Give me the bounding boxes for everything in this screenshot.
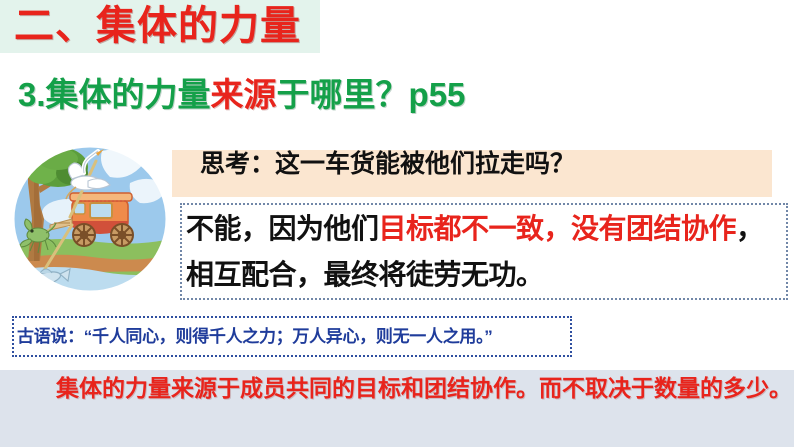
answer-text: 不能，因为他们目标都不一致，没有团结协作，相互配合，最终将徒劳无功。 <box>186 206 786 298</box>
question-heading-part1: 3.集体的力量 <box>18 76 211 113</box>
question-heading-highlight: 来源 <box>211 76 277 113</box>
conclusion-text: 集体的力量来源于成员共同的目标和团结协作。而不取决于数量的多少。 <box>8 370 794 406</box>
think-prompt-text: 思考：这一车货能被他们拉走吗？ <box>172 148 792 181</box>
question-heading: 3.集体的力量来源于哪里？p55 <box>18 74 465 116</box>
slide-canvas: 二、集体的力量 3.集体的力量来源于哪里？p55 <box>0 0 794 447</box>
answer-part1: 不能，因为他们 <box>186 213 379 244</box>
idiom-text: 古语说：“千人同心，则得千人之力；万人异心，则无一人之用。” <box>17 322 573 352</box>
question-heading-part3: 于哪里？p55 <box>277 76 466 113</box>
section-title: 二、集体的力量 <box>14 1 301 51</box>
swan-pike-crayfish-cart-illustration <box>10 143 170 295</box>
answer-highlight: 目标都不一致，没有团结协作 <box>379 213 737 244</box>
